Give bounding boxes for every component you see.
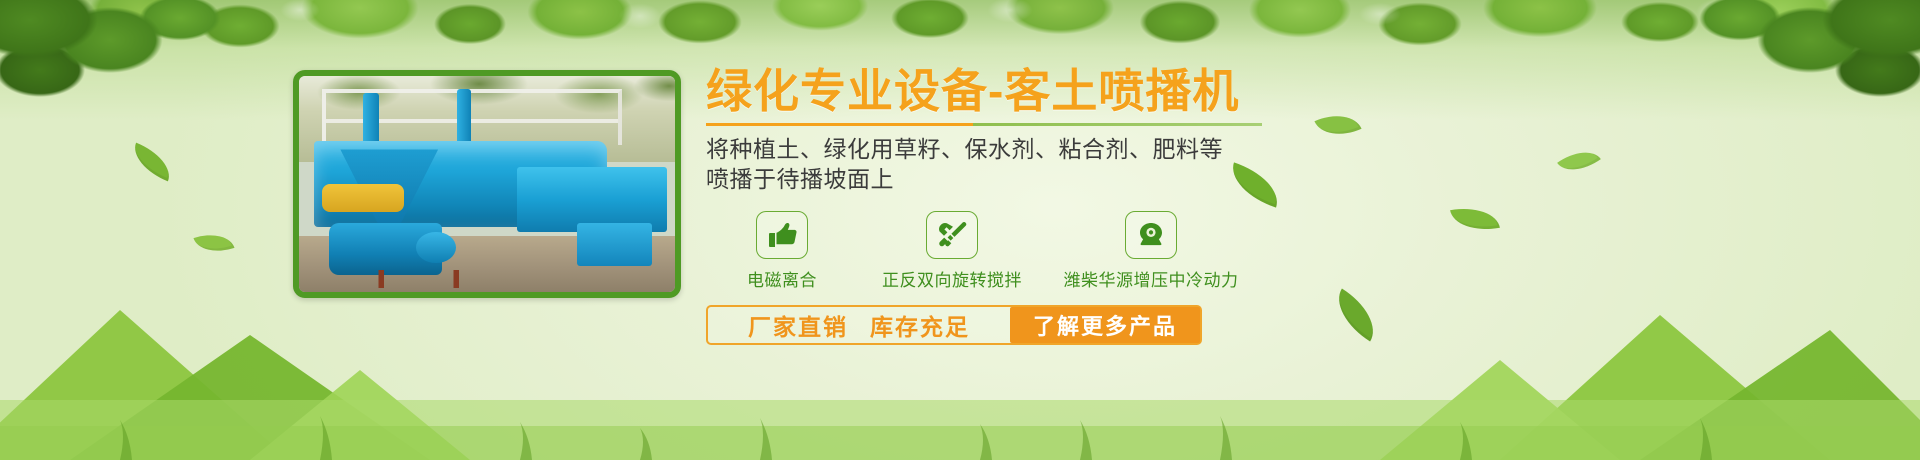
left-corner-leaf-decoration bbox=[0, 0, 300, 150]
promo-banner: 绿化专业设备-客土喷播机 将种植土、绿化用草籽、保水剂、粘合剂、肥料等 喷播于待… bbox=[0, 0, 1920, 460]
title-divider bbox=[706, 123, 1262, 126]
cta-slogan-left: 厂家直销 bbox=[748, 308, 848, 342]
subtitle-line-2: 喷播于待播坡面上 bbox=[706, 164, 1426, 195]
banner-content: 绿化专业设备-客土喷播机 将种植土、绿化用草籽、保水剂、粘合剂、肥料等 喷播于待… bbox=[706, 66, 1426, 345]
feature-item-electromagnetic-clutch: 电磁离合 bbox=[706, 211, 858, 291]
cta-slogan: 厂家直销 库存充足 bbox=[708, 307, 1010, 343]
page-title: 绿化专业设备-客土喷播机 bbox=[706, 66, 1426, 117]
wrench-screwdriver-icon bbox=[926, 211, 978, 259]
thumbs-up-icon bbox=[756, 211, 808, 259]
feature-item-bidirectional-mixing: 正反双向旋转搅拌 bbox=[858, 211, 1046, 291]
cta-bar: 厂家直销 库存充足 了解更多产品 bbox=[706, 305, 1202, 345]
cta-slogan-right: 库存充足 bbox=[870, 308, 970, 342]
subtitle-line-1: 将种植土、绿化用草籽、保水剂、粘合剂、肥料等 bbox=[706, 134, 1426, 165]
feature-item-turbo-power: 潍柴华源增压中冷动力 bbox=[1046, 211, 1256, 291]
product-photo bbox=[293, 70, 681, 298]
floating-leaf-icon bbox=[1557, 141, 1601, 181]
learn-more-button[interactable]: 了解更多产品 bbox=[1010, 307, 1200, 343]
feature-label: 电磁离合 bbox=[747, 266, 817, 291]
feature-label: 正反双向旋转搅拌 bbox=[882, 266, 1022, 291]
feature-label: 潍柴华源增压中冷动力 bbox=[1064, 266, 1239, 291]
subtitle-block: 将种植土、绿化用草籽、保水剂、粘合剂、肥料等 喷播于待播坡面上 bbox=[706, 134, 1426, 196]
feature-list: 电磁离合 正反双向旋转搅拌 bbox=[706, 211, 1426, 291]
turbo-engine-icon bbox=[1125, 211, 1177, 259]
right-corner-leaf-decoration bbox=[1620, 0, 1920, 150]
